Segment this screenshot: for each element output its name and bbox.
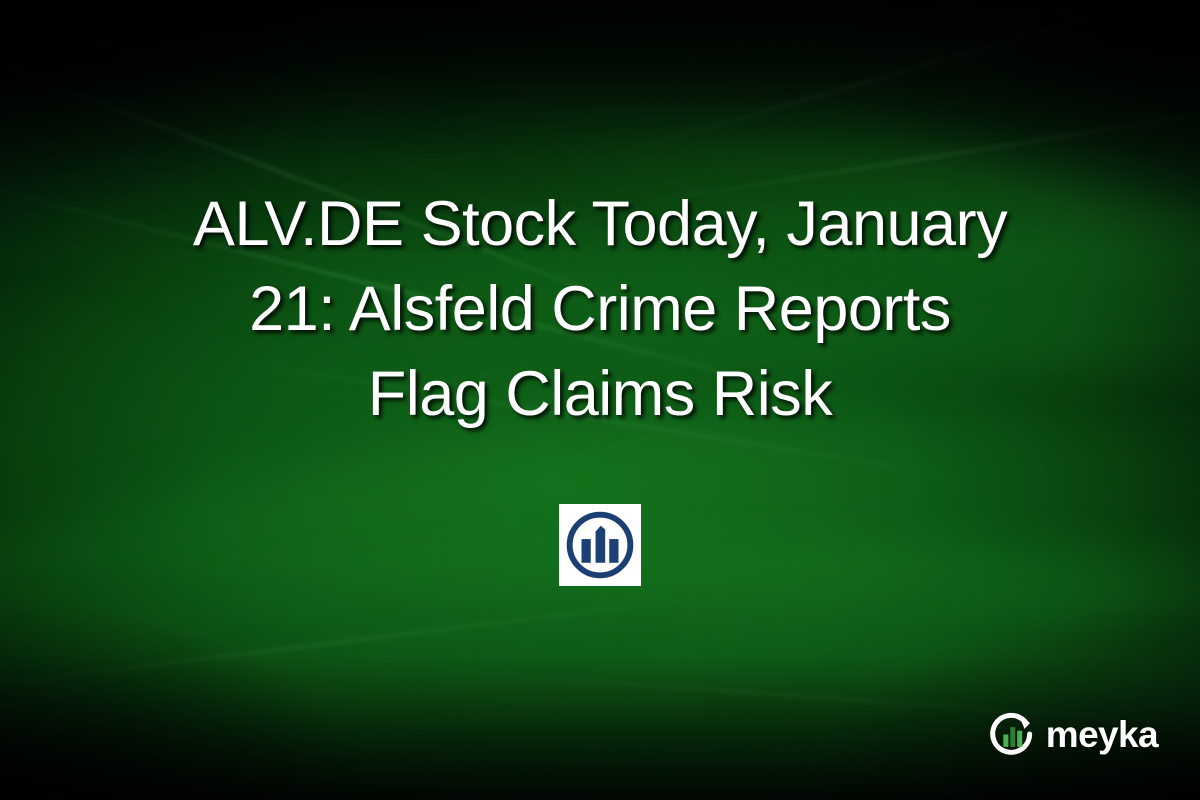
- headline-title: ALV.DE Stock Today, January 21: Alsfeld …: [0, 182, 1200, 437]
- meyka-watermark: meyka: [989, 710, 1158, 758]
- meyka-mark-icon: [989, 710, 1037, 758]
- news-banner-card: ALV.DE Stock Today, January 21: Alsfeld …: [0, 0, 1200, 800]
- headline-line-1: ALV.DE Stock Today, January: [193, 189, 1007, 259]
- headline-line-2: 21: Alsfeld Crime Reports: [249, 274, 951, 344]
- headline-line-3: Flag Claims Risk: [368, 359, 833, 429]
- meyka-wordmark: meyka: [1046, 716, 1158, 753]
- allianz-logo: [559, 504, 641, 586]
- banner-content: ALV.DE Stock Today, January 21: Alsfeld …: [0, 0, 1200, 800]
